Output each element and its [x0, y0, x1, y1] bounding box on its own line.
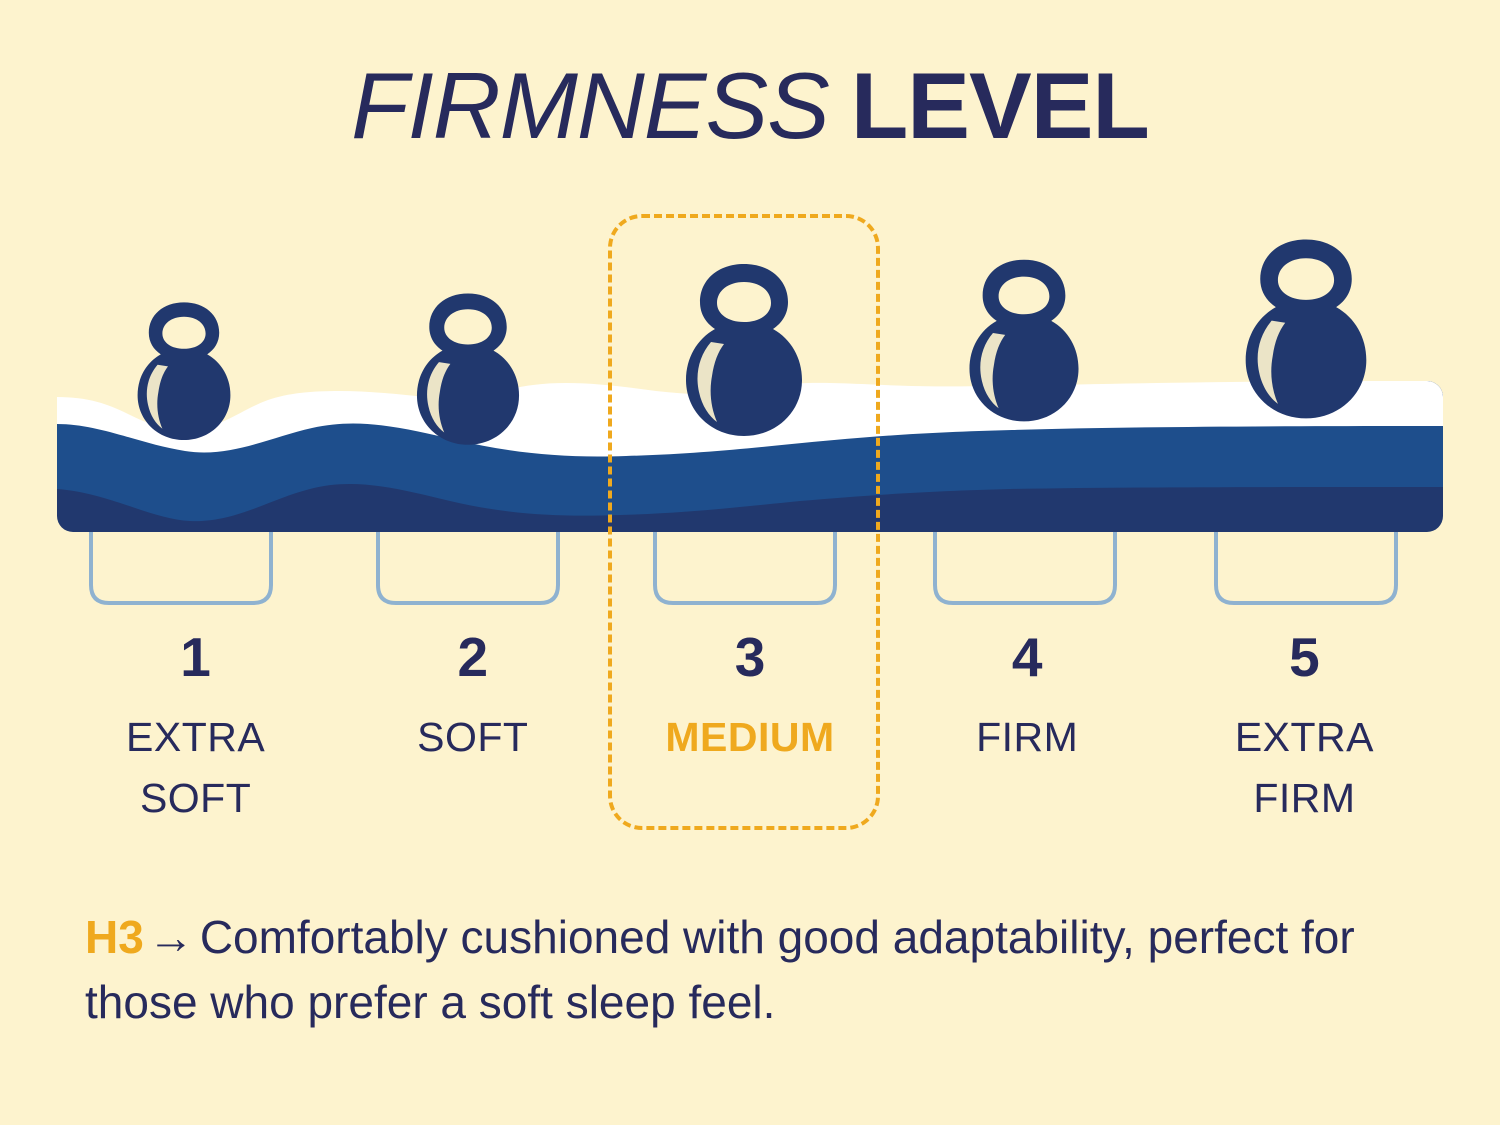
level-number-5: 5: [1289, 630, 1320, 685]
support-leg-5: [1216, 532, 1396, 603]
level-name-1: EXTRA SOFT: [126, 707, 265, 828]
level-item-2[interactable]: 2 SOFT: [334, 630, 611, 830]
level-name-3: MEDIUM: [665, 707, 834, 768]
level-name-5: EXTRA FIRM: [1235, 707, 1374, 828]
kettlebell-icon-level-5: [1246, 240, 1367, 419]
kettlebell-icon-level-1: [138, 302, 231, 440]
caption-text: Comfortably cushioned with good adaptabi…: [85, 911, 1355, 1028]
level-number-2: 2: [458, 630, 489, 685]
support-leg-4: [935, 532, 1115, 603]
support-leg-3: [655, 532, 835, 603]
support-leg-1: [91, 532, 271, 603]
kettlebell-icon-level-3: [686, 264, 802, 436]
level-name-5-line-1: EXTRA: [1235, 707, 1374, 768]
arrow-icon: →: [144, 911, 200, 963]
level-item-1[interactable]: 1 EXTRA SOFT: [57, 630, 334, 830]
level-item-3[interactable]: 3 MEDIUM: [611, 630, 888, 830]
support-leg-2: [378, 532, 558, 603]
firmness-level-labels: 1 EXTRA SOFT 2 SOFT 3 MEDIUM 4 FIRM: [57, 630, 1443, 830]
infographic-canvas: FIRMNESSLEVEL: [0, 0, 1500, 1125]
caption: H3→Comfortably cushioned with good adapt…: [85, 905, 1415, 1036]
level-name-4: FIRM: [976, 707, 1078, 768]
level-name-2: SOFT: [417, 707, 528, 768]
level-name-5-line-2: FIRM: [1235, 768, 1374, 829]
level-name-3-line-1: MEDIUM: [665, 707, 834, 768]
caption-code: H3: [85, 911, 144, 963]
level-item-5[interactable]: 5 EXTRA FIRM: [1166, 630, 1443, 830]
level-number-4: 4: [1012, 630, 1043, 685]
kettlebell-icon-level-2: [417, 293, 519, 444]
mattress-supports: [91, 532, 1396, 603]
level-name-1-line-1: EXTRA: [126, 707, 265, 768]
level-item-4[interactable]: 4 FIRM: [889, 630, 1166, 830]
level-name-2-line-1: SOFT: [417, 707, 528, 768]
level-name-1-line-2: SOFT: [126, 768, 265, 829]
level-number-1: 1: [180, 630, 211, 685]
level-name-4-line-1: FIRM: [976, 707, 1078, 768]
kettlebell-icon-level-4: [969, 260, 1078, 422]
level-number-3: 3: [735, 630, 766, 685]
